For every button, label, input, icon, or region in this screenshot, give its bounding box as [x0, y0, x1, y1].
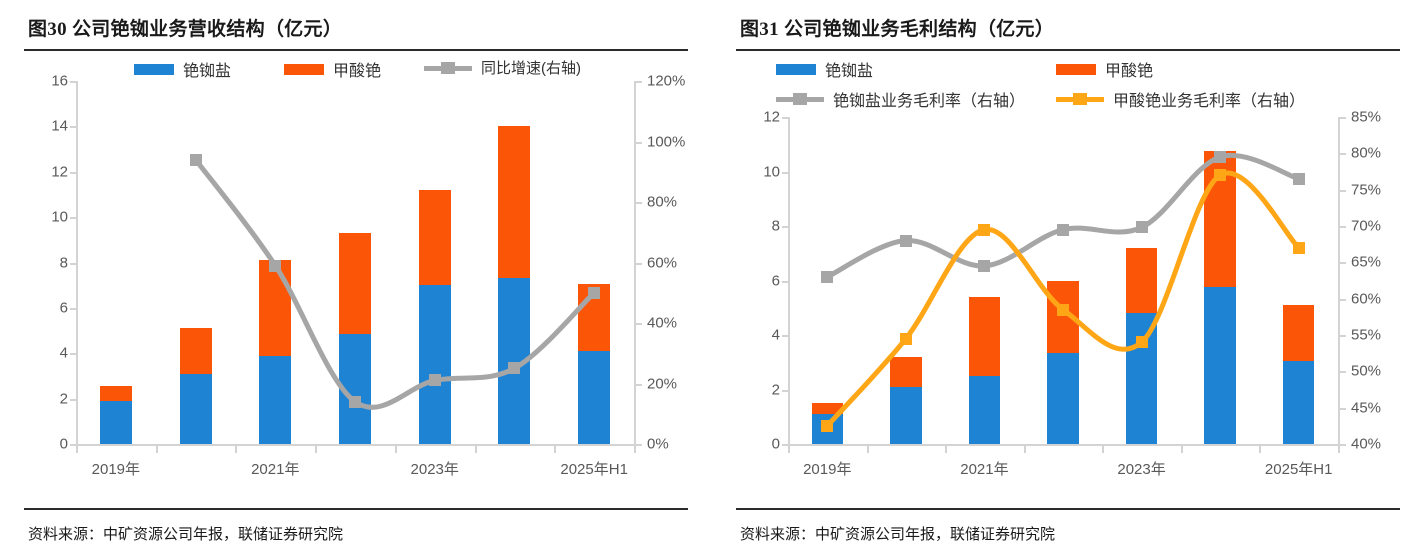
cesium-rubidium-salt-swatch — [134, 64, 174, 75]
legend-cesium-formate[interactable]: 甲酸铯 — [284, 57, 381, 81]
line-marker — [269, 260, 281, 272]
legend-formate-margin[interactable]: 甲酸铯业务毛利率（右轴） — [1056, 87, 1305, 111]
cesium-formate-swatch — [1056, 64, 1096, 75]
legend-label: 铯铷盐 — [183, 57, 231, 81]
yoy-growth-swatch — [424, 62, 472, 74]
page-title: 图31 公司铯铷业务毛利结构（亿元） — [740, 14, 1054, 41]
cesium-formate-swatch — [284, 64, 324, 75]
source-note: 资料来源：中矿资源公司年报，联储证券研究院 — [740, 523, 1055, 544]
divider-top — [24, 49, 688, 51]
line-marker — [978, 224, 990, 236]
figure-panel-left: 图30 公司铯铷业务营收结构（亿元） 02468101214160%20%40%… — [0, 0, 712, 558]
line-marker — [1293, 173, 1305, 185]
source-note: 资料来源：中矿资源公司年报，联储证券研究院 — [28, 523, 343, 544]
line-path — [827, 173, 1298, 426]
legend-cesium-rubidium-salt[interactable]: 铯铷盐 — [134, 57, 231, 81]
line-marker — [900, 235, 912, 247]
legend-label: 甲酸铯 — [1105, 57, 1153, 81]
line-marker — [1214, 169, 1226, 181]
line-marker — [1057, 224, 1069, 236]
divider-bottom — [736, 508, 1400, 510]
line-marker — [978, 260, 990, 272]
line-marker — [1293, 242, 1305, 254]
figure-panel-right: 图31 公司铯铷业务毛利结构（亿元） 02468101240%45%50%55%… — [712, 0, 1424, 558]
divider-bottom — [24, 508, 688, 510]
divider-top — [736, 49, 1400, 51]
legend-marker — [441, 62, 455, 74]
legend-marker — [793, 93, 807, 105]
salt-margin-swatch — [776, 93, 824, 105]
line-marker — [821, 271, 833, 283]
line-series-layer — [736, 55, 1400, 507]
line-marker — [190, 154, 202, 166]
line-marker — [508, 362, 520, 374]
cesium-rubidium-salt-swatch — [776, 64, 816, 75]
line-marker — [1136, 336, 1148, 348]
line-marker — [821, 420, 833, 432]
legend-label: 同比增速(右轴) — [481, 57, 581, 78]
line-marker — [1136, 221, 1148, 233]
legend-label: 甲酸铯 — [333, 57, 381, 81]
line-path — [196, 160, 595, 408]
legend-label: 甲酸铯业务毛利率（右轴） — [1113, 87, 1305, 111]
line-marker — [1057, 304, 1069, 316]
figure-pair-page: 图30 公司铯铷业务营收结构（亿元） 02468101214160%20%40%… — [0, 0, 1424, 558]
line-marker — [349, 396, 361, 408]
legend-yoy-growth[interactable]: 同比增速(右轴) — [424, 57, 581, 78]
legend-marker — [1073, 93, 1087, 105]
line-marker — [1214, 151, 1226, 163]
line-marker — [429, 374, 441, 386]
page-title: 图30 公司铯铷业务营收结构（亿元） — [28, 14, 342, 41]
line-series-layer — [24, 55, 688, 507]
line-marker — [900, 333, 912, 345]
chart-revenue-structure: 02468101214160%20%40%60%80%100%120%2019年… — [24, 55, 688, 507]
legend-label: 铯铷盐业务毛利率（右轴） — [833, 87, 1025, 111]
legend-label: 铯铷盐 — [825, 57, 873, 81]
chart-gross-profit-structure: 02468101240%45%50%55%60%65%70%75%80%85%2… — [736, 55, 1400, 507]
legend-cesium-formate[interactable]: 甲酸铯 — [1056, 57, 1153, 81]
line-marker — [588, 287, 600, 299]
formate-margin-swatch — [1056, 93, 1104, 105]
legend-cesium-rubidium-salt[interactable]: 铯铷盐 — [776, 57, 873, 81]
legend-salt-margin[interactable]: 铯铷盐业务毛利率（右轴） — [776, 87, 1025, 111]
